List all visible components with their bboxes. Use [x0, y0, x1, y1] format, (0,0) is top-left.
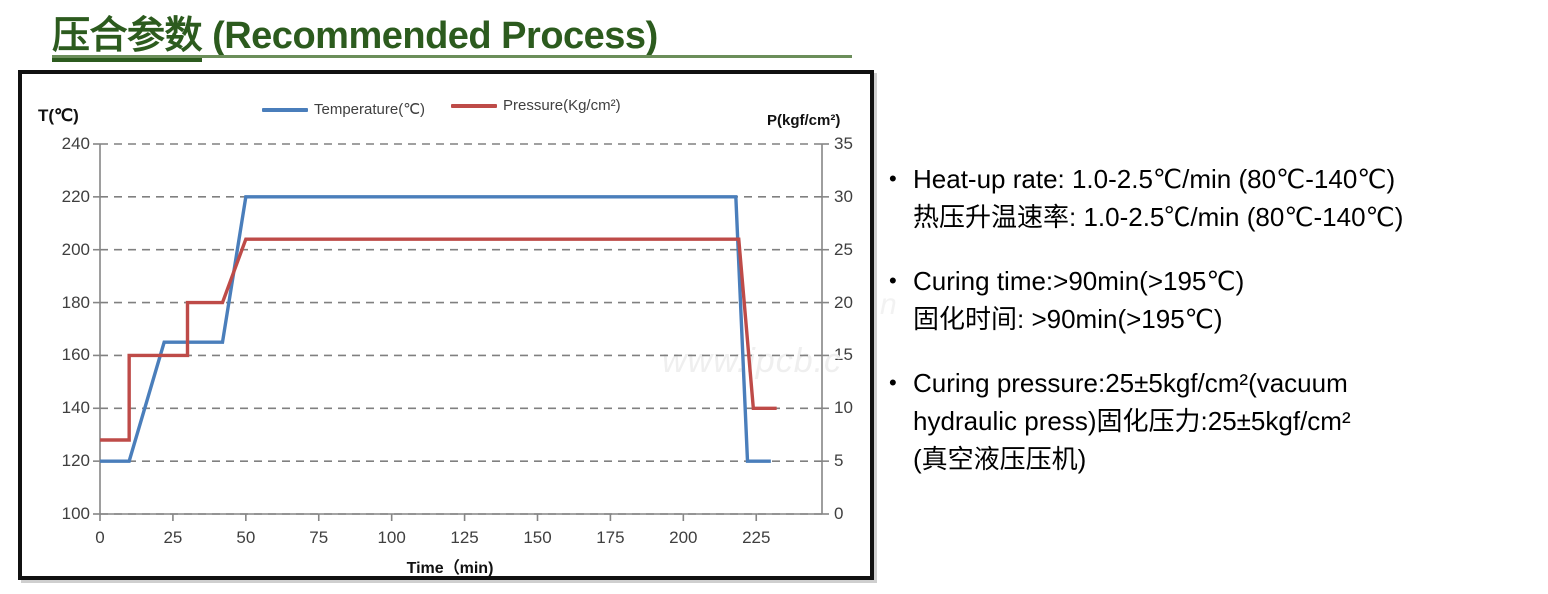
- plot-area: [100, 144, 800, 514]
- legend-label-temperature: Temperature(℃): [314, 102, 425, 117]
- y-axis-left-tick-label: 160: [34, 345, 90, 365]
- bullet-item: • Curing pressure:25±5kgf/cm²(vacuum hyd…: [885, 364, 1535, 478]
- chart-legend: Temperature(℃) Pressure(Kg/cm²): [262, 96, 621, 117]
- legend-entry-temperature: Temperature(℃): [262, 102, 425, 117]
- y-axis-left-tick-label: 120: [34, 451, 90, 471]
- y-axis-left-tick-label: 240: [34, 134, 90, 154]
- x-axis-tick-label: 150: [513, 528, 563, 548]
- y-axis-right-tick-label: 5: [834, 451, 874, 471]
- gridlines: [100, 144, 822, 514]
- bullet-marker-icon: •: [885, 364, 913, 402]
- y-axis-left-tick-label: 200: [34, 240, 90, 260]
- x-axis-tick-label: 100: [367, 528, 417, 548]
- x-axis-tick-label: 25: [148, 528, 198, 548]
- x-axis-tick-label: 50: [221, 528, 271, 548]
- y-axis-right-tick-label: 30: [834, 187, 874, 207]
- bullet-marker-icon: •: [885, 160, 913, 198]
- axis-tick-marks: [93, 144, 829, 521]
- y-axis-left-tick-label: 100: [34, 504, 90, 524]
- legend-label-pressure: Pressure(Kg/cm²): [503, 98, 621, 113]
- bullet-item: • Heat-up rate: 1.0-2.5℃/min (80℃-140℃) …: [885, 160, 1535, 236]
- series-line-pressure: [100, 239, 777, 440]
- y-axis-right-title: P(kgf/cm²): [767, 112, 840, 129]
- bullet-item: • Curing time:>90min(>195℃) 固化时间: >90min…: [885, 262, 1535, 338]
- bullet-list: • Heat-up rate: 1.0-2.5℃/min (80℃-140℃) …: [885, 160, 1535, 504]
- x-axis-tick-label: 225: [731, 528, 781, 548]
- x-axis-tick-label: 75: [294, 528, 344, 548]
- x-axis-title: Time（min): [22, 554, 878, 578]
- x-axis-tick-label: 200: [658, 528, 708, 548]
- series-line-temperature: [100, 197, 771, 461]
- y-axis-right-tick-label: 20: [834, 293, 874, 313]
- y-axis-left-tick-label: 220: [34, 187, 90, 207]
- bullet-text: Curing pressure:25±5kgf/cm²(vacuum hydra…: [913, 364, 1351, 478]
- y-axis-left-tick-label: 140: [34, 398, 90, 418]
- y-axis-left-tick-label: 180: [34, 293, 90, 313]
- bullet-marker-icon: •: [885, 262, 913, 300]
- page-title: 压合参数 (Recommended Process): [52, 4, 658, 59]
- y-axis-right-tick-label: 0: [834, 504, 874, 524]
- y-axis-right-tick-label: 25: [834, 240, 874, 260]
- y-axis-right-tick-label: 35: [834, 134, 874, 154]
- x-axis-tick-label: 125: [440, 528, 490, 548]
- y-axis-right-tick-label: 15: [834, 345, 874, 365]
- y-axis-right-tick-label: 10: [834, 398, 874, 418]
- axis-lines: [100, 144, 822, 514]
- legend-entry-pressure: Pressure(Kg/cm²): [451, 98, 621, 113]
- y-axis-left-title: T(℃): [38, 106, 79, 126]
- x-axis-tick-label: 0: [75, 528, 125, 548]
- legend-swatch-temperature: [262, 108, 308, 112]
- bullet-text: Curing time:>90min(>195℃) 固化时间: >90min(>…: [913, 262, 1244, 338]
- title-underline-rule: [52, 55, 852, 58]
- chart-plot-svg: [100, 144, 800, 514]
- page-title-english: (Recommended Process): [202, 15, 658, 57]
- legend-swatch-pressure: [451, 104, 497, 108]
- chart-frame: Temperature(℃) Pressure(Kg/cm²) T(℃) P(k…: [18, 70, 874, 580]
- bullet-text: Heat-up rate: 1.0-2.5℃/min (80℃-140℃) 热压…: [913, 160, 1403, 236]
- data-series: [100, 197, 777, 461]
- x-axis-tick-label: 175: [585, 528, 635, 548]
